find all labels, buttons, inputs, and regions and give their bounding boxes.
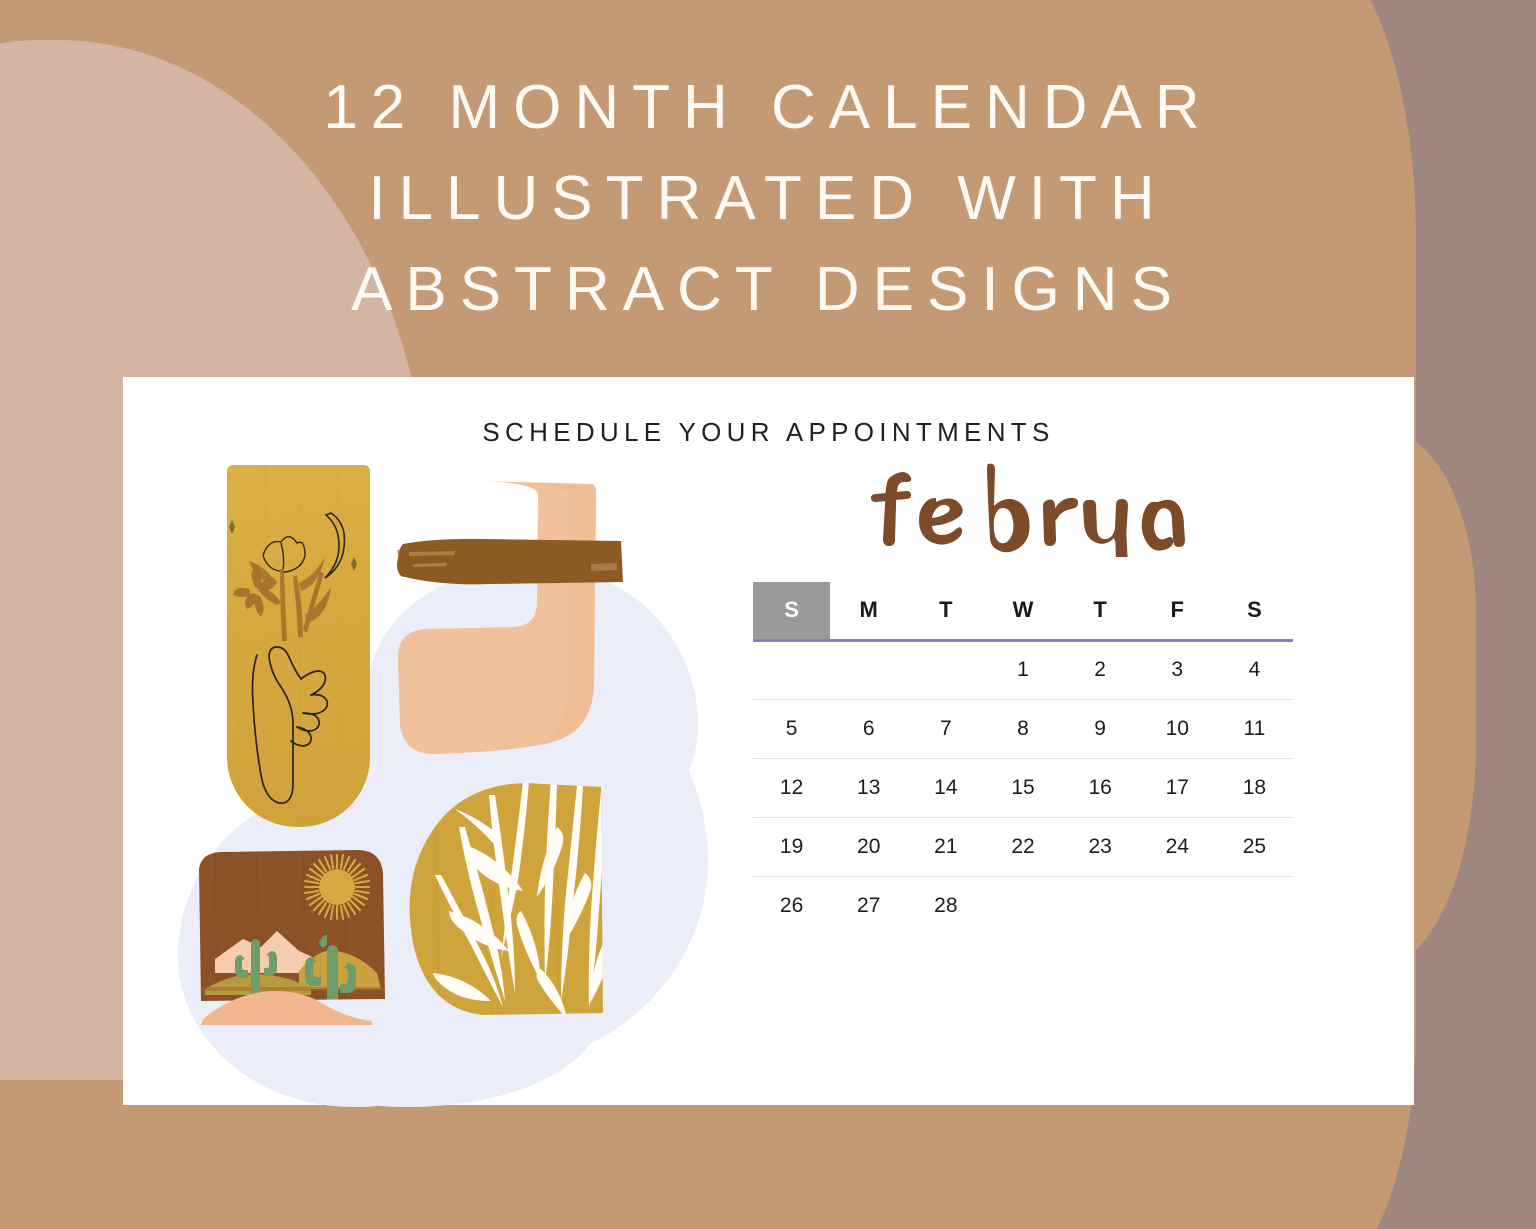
- date-cell[interactable]: 28: [907, 876, 984, 935]
- date-cell[interactable]: 14: [907, 758, 984, 817]
- date-cell[interactable]: 25: [1216, 817, 1293, 876]
- month-calendar: S M T W T F S: [753, 462, 1293, 1002]
- date-cell[interactable]: 20: [830, 817, 907, 876]
- calendar-week-row: 5 6 7 8 9 10 11: [753, 699, 1293, 758]
- date-cell[interactable]: [984, 876, 1061, 935]
- day-header-thursday: T: [1062, 582, 1139, 640]
- date-cell[interactable]: [907, 640, 984, 699]
- date-cell[interactable]: [830, 640, 907, 699]
- date-cell[interactable]: 27: [830, 876, 907, 935]
- calendar-week-row: 1 2 3 4: [753, 640, 1293, 699]
- date-cell[interactable]: 10: [1139, 699, 1216, 758]
- date-cell[interactable]: 5: [753, 699, 830, 758]
- peach-j-blob-shape: [396, 479, 611, 769]
- date-cell[interactable]: 21: [907, 817, 984, 876]
- date-cell[interactable]: [753, 640, 830, 699]
- day-header-saturday: S: [1216, 582, 1293, 640]
- hand-holding-flowers-panel: [227, 465, 370, 827]
- date-cell[interactable]: 6: [830, 699, 907, 758]
- date-cell[interactable]: 18: [1216, 758, 1293, 817]
- poster-title-line-1: 12 MONTH CALENDAR: [0, 62, 1536, 153]
- day-header-friday: F: [1139, 582, 1216, 640]
- calendar-grid-wrapper: S M T W T F S: [753, 582, 1293, 935]
- day-header-tuesday: T: [907, 582, 984, 640]
- calendar-week-row: 12 13 14 15 16 17 18: [753, 758, 1293, 817]
- background-blob-left-fill: [0, 900, 125, 1080]
- day-header-wednesday: W: [984, 582, 1061, 640]
- day-header-sunday: S: [753, 582, 830, 640]
- date-cell[interactable]: 12: [753, 758, 830, 817]
- month-title: [753, 462, 1293, 557]
- poster-canvas: 12 MONTH CALENDAR ILLUSTRATED WITH ABSTR…: [0, 0, 1536, 1229]
- calendar-header-row: S M T W T F S: [753, 582, 1293, 640]
- date-cell[interactable]: [1062, 876, 1139, 935]
- poster-title: 12 MONTH CALENDAR ILLUSTRATED WITH ABSTR…: [0, 62, 1536, 335]
- date-cell[interactable]: 3: [1139, 640, 1216, 699]
- date-cell[interactable]: 22: [984, 817, 1061, 876]
- date-cell[interactable]: 2: [1062, 640, 1139, 699]
- calendar-week-row: 19 20 21 22 23 24 25: [753, 817, 1293, 876]
- date-cell[interactable]: [1216, 876, 1293, 935]
- poster-title-line-2: ILLUSTRATED WITH: [0, 153, 1536, 244]
- date-cell[interactable]: 4: [1216, 640, 1293, 699]
- day-header-monday: M: [830, 582, 907, 640]
- illustration-group: [143, 457, 723, 1097]
- card-subtitle: SCHEDULE YOUR APPOINTMENTS: [123, 417, 1414, 448]
- date-cell[interactable]: 8: [984, 699, 1061, 758]
- calendar-week-row: 26 27 28: [753, 876, 1293, 935]
- calendar-card: SCHEDULE YOUR APPOINTMENTS: [123, 377, 1414, 1105]
- date-cell[interactable]: 9: [1062, 699, 1139, 758]
- poster-title-line-3: ABSTRACT DESIGNS: [0, 244, 1536, 335]
- date-cell[interactable]: [1139, 876, 1216, 935]
- desert-cactus-scene: [195, 847, 390, 1027]
- date-cell[interactable]: 24: [1139, 817, 1216, 876]
- calendar-table: S M T W T F S: [753, 582, 1293, 935]
- date-cell[interactable]: 16: [1062, 758, 1139, 817]
- date-cell[interactable]: 7: [907, 699, 984, 758]
- date-cell[interactable]: 19: [753, 817, 830, 876]
- date-cell[interactable]: 26: [753, 876, 830, 935]
- date-cell[interactable]: 15: [984, 758, 1061, 817]
- date-cell[interactable]: 23: [1062, 817, 1139, 876]
- brown-brush-stroke: [395, 530, 625, 593]
- date-cell[interactable]: 13: [830, 758, 907, 817]
- ochre-grass-circle: [405, 775, 620, 1025]
- date-cell[interactable]: 11: [1216, 699, 1293, 758]
- date-cell[interactable]: 17: [1139, 758, 1216, 817]
- date-cell[interactable]: 1: [984, 640, 1061, 699]
